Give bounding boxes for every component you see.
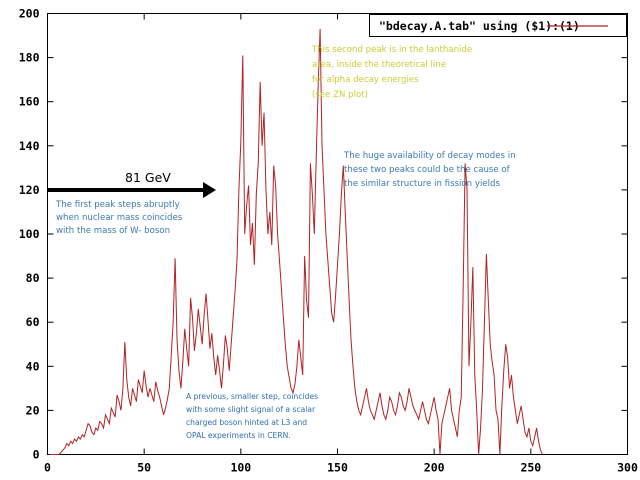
annotation-line: with the mass of W- boson — [56, 226, 170, 236]
arrow-label: 81 GeV — [125, 170, 171, 185]
annotation-line: with some slight signal of a scalar — [186, 405, 316, 414]
annotation-line: The huge availability of decay modes in — [343, 151, 516, 161]
x-tick-label: 250 — [520, 461, 541, 475]
x-tick-label: 50 — [137, 461, 151, 475]
annotation-line: (see ZN plot) — [312, 90, 368, 100]
canvas-background — [0, 0, 640, 480]
x-tick-label: 100 — [230, 461, 251, 475]
y-tick-label: 180 — [19, 51, 40, 65]
annotation-first-peak: The first peak steps abruptly when nucle… — [55, 200, 183, 236]
annotation-line: when nuclear mass coincides — [56, 213, 183, 223]
annotation-line: The first peak steps abruptly — [55, 200, 180, 210]
y-tick-label: 100 — [19, 227, 40, 241]
annotation-line: the similar structure in fission yields — [344, 179, 500, 189]
y-tick-label: 60 — [26, 315, 40, 329]
y-tick-label: 120 — [19, 183, 40, 197]
x-tick-label: 300 — [617, 461, 638, 475]
annotation-line: area, inside the theoretical line — [312, 60, 446, 70]
annotation-line: OPAL experiments in CERN. — [186, 431, 291, 440]
annotation-decay-modes: The huge availability of decay modes in … — [343, 151, 516, 189]
annotation-line: charged boson hinted at L3 and — [186, 418, 307, 427]
annotation-line: for alpha decay energies — [312, 75, 419, 85]
y-tick-label: 80 — [26, 271, 40, 285]
y-tick-label: 40 — [26, 359, 40, 373]
y-tick-label: 20 — [26, 403, 40, 417]
legend: "bdecay.A.tab" using ($1):(1) — [370, 15, 627, 37]
chart-canvas: 020406080100120140160180200 050100150200… — [0, 0, 640, 480]
y-tick-label: 200 — [19, 7, 40, 21]
plot-window: 020406080100120140160180200 050100150200… — [0, 0, 640, 480]
annotation-line: A previous, smaller step, coincides — [186, 392, 318, 401]
x-tick-label: 0 — [44, 461, 51, 475]
annotation-line: This second peak is in the lanthanide — [311, 45, 472, 55]
y-tick-label: 160 — [19, 95, 40, 109]
annotation-line: these two peaks could be the cause of — [344, 165, 511, 175]
y-tick-label: 0 — [33, 448, 40, 462]
x-tick-label: 150 — [327, 461, 348, 475]
y-tick-label: 140 — [19, 139, 40, 153]
x-tick-label: 200 — [424, 461, 445, 475]
